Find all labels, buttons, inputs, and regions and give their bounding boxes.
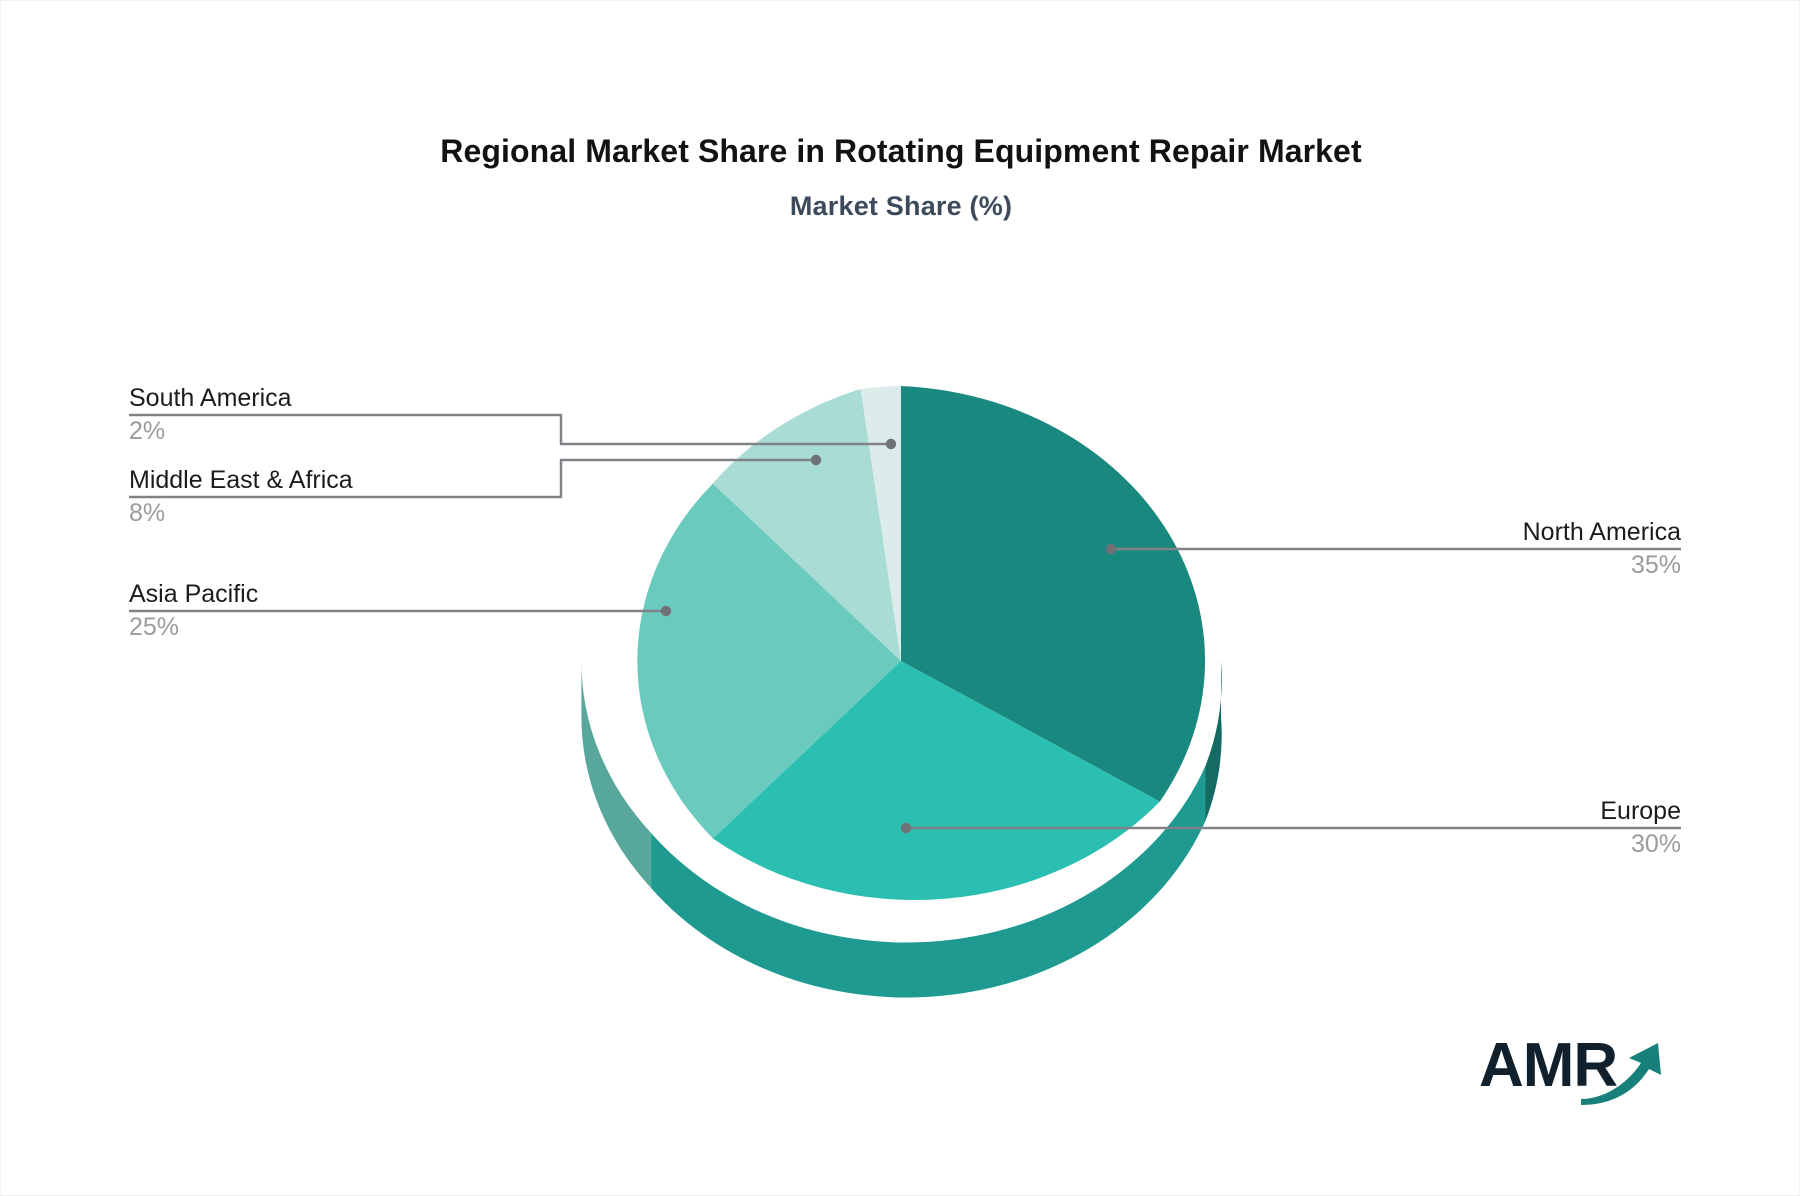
callout-asia-pacific[interactable]: Asia Pacific 25% [129, 579, 649, 644]
callout-north-america[interactable]: North America 35% [1181, 517, 1681, 582]
callout-label-south-america: South America [129, 383, 649, 414]
pie-top-face [637, 386, 1205, 900]
leader-dot-north-america [1106, 544, 1116, 554]
callout-label-middle-east-africa: Middle East & Africa [129, 465, 649, 496]
callout-value-asia-pacific: 25% [129, 610, 649, 644]
growth-arrow-icon [1579, 1037, 1664, 1105]
callout-south-america[interactable]: South America 2% [129, 383, 649, 448]
callout-label-europe: Europe [1181, 796, 1681, 827]
callout-middle-east-africa[interactable]: Middle East & Africa 8% [129, 465, 649, 530]
leader-dot-middle-east-africa [811, 455, 821, 465]
callout-value-south-america: 2% [129, 414, 649, 448]
callout-label-asia-pacific: Asia Pacific [129, 579, 649, 610]
leader-dot-south-america [886, 439, 896, 449]
amr-logo: AMR [1479, 1031, 1664, 1109]
callout-value-middle-east-africa: 8% [129, 496, 649, 530]
callout-value-north-america: 35% [1181, 548, 1681, 582]
leader-dot-asia-pacific [661, 606, 671, 616]
chart-canvas: Regional Market Share in Rotating Equipm… [0, 0, 1800, 1196]
leader-dot-europe [901, 823, 911, 833]
callout-europe[interactable]: Europe 30% [1181, 796, 1681, 861]
callout-label-north-america: North America [1181, 517, 1681, 548]
callout-value-europe: 30% [1181, 827, 1681, 861]
